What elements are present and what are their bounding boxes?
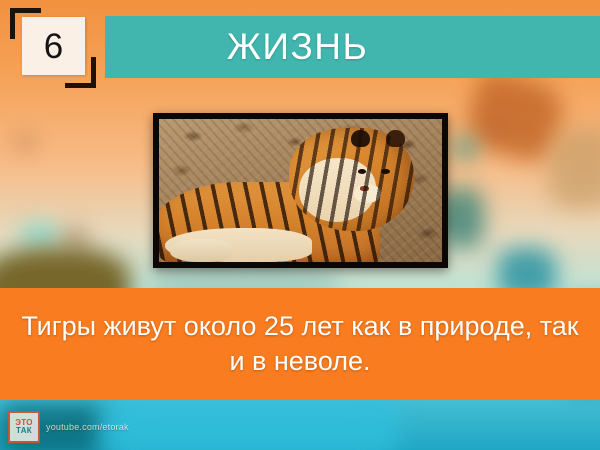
- tiger-eye-left: [358, 169, 367, 174]
- tiger-ear-right: [386, 130, 405, 148]
- caption-band: Тигры живут около 25 лет как в природе, …: [0, 288, 600, 400]
- background-blob: [18, 222, 62, 250]
- channel-url: youtube.com/etorak: [46, 422, 129, 432]
- tiger-nose: [360, 186, 369, 191]
- photo-frame: [153, 113, 448, 268]
- tiger-ear-left: [351, 130, 370, 148]
- title-bar: ЖИЗНЬ: [105, 16, 600, 78]
- item-number-badge: 6: [10, 8, 102, 88]
- background-blob: [488, 120, 504, 136]
- tiger-photo: [159, 119, 442, 262]
- tiger-head: [289, 128, 414, 231]
- watermark: ЭТО ТАК youtube.com/etorak: [8, 411, 129, 443]
- channel-logo-icon: ЭТО ТАК: [8, 411, 40, 443]
- badge-box: 6: [22, 17, 85, 75]
- tiger-muzzle: [354, 184, 381, 203]
- caption-text: Тигры живут около 25 лет как в природе, …: [20, 309, 580, 379]
- background-blob: [14, 132, 36, 152]
- background-blob: [452, 135, 478, 161]
- tiger-eye-right: [381, 169, 390, 174]
- slide-canvas: ЖИЗНЬ 6 Тигры живут около 25 лет к: [0, 0, 600, 450]
- tiger-paw: [170, 239, 232, 262]
- badge-number: 6: [44, 29, 63, 64]
- background-blob: [548, 128, 600, 208]
- page-title: ЖИЗНЬ: [227, 26, 369, 68]
- background-blob: [98, 398, 398, 450]
- channel-logo-line2: ТАК: [16, 427, 32, 435]
